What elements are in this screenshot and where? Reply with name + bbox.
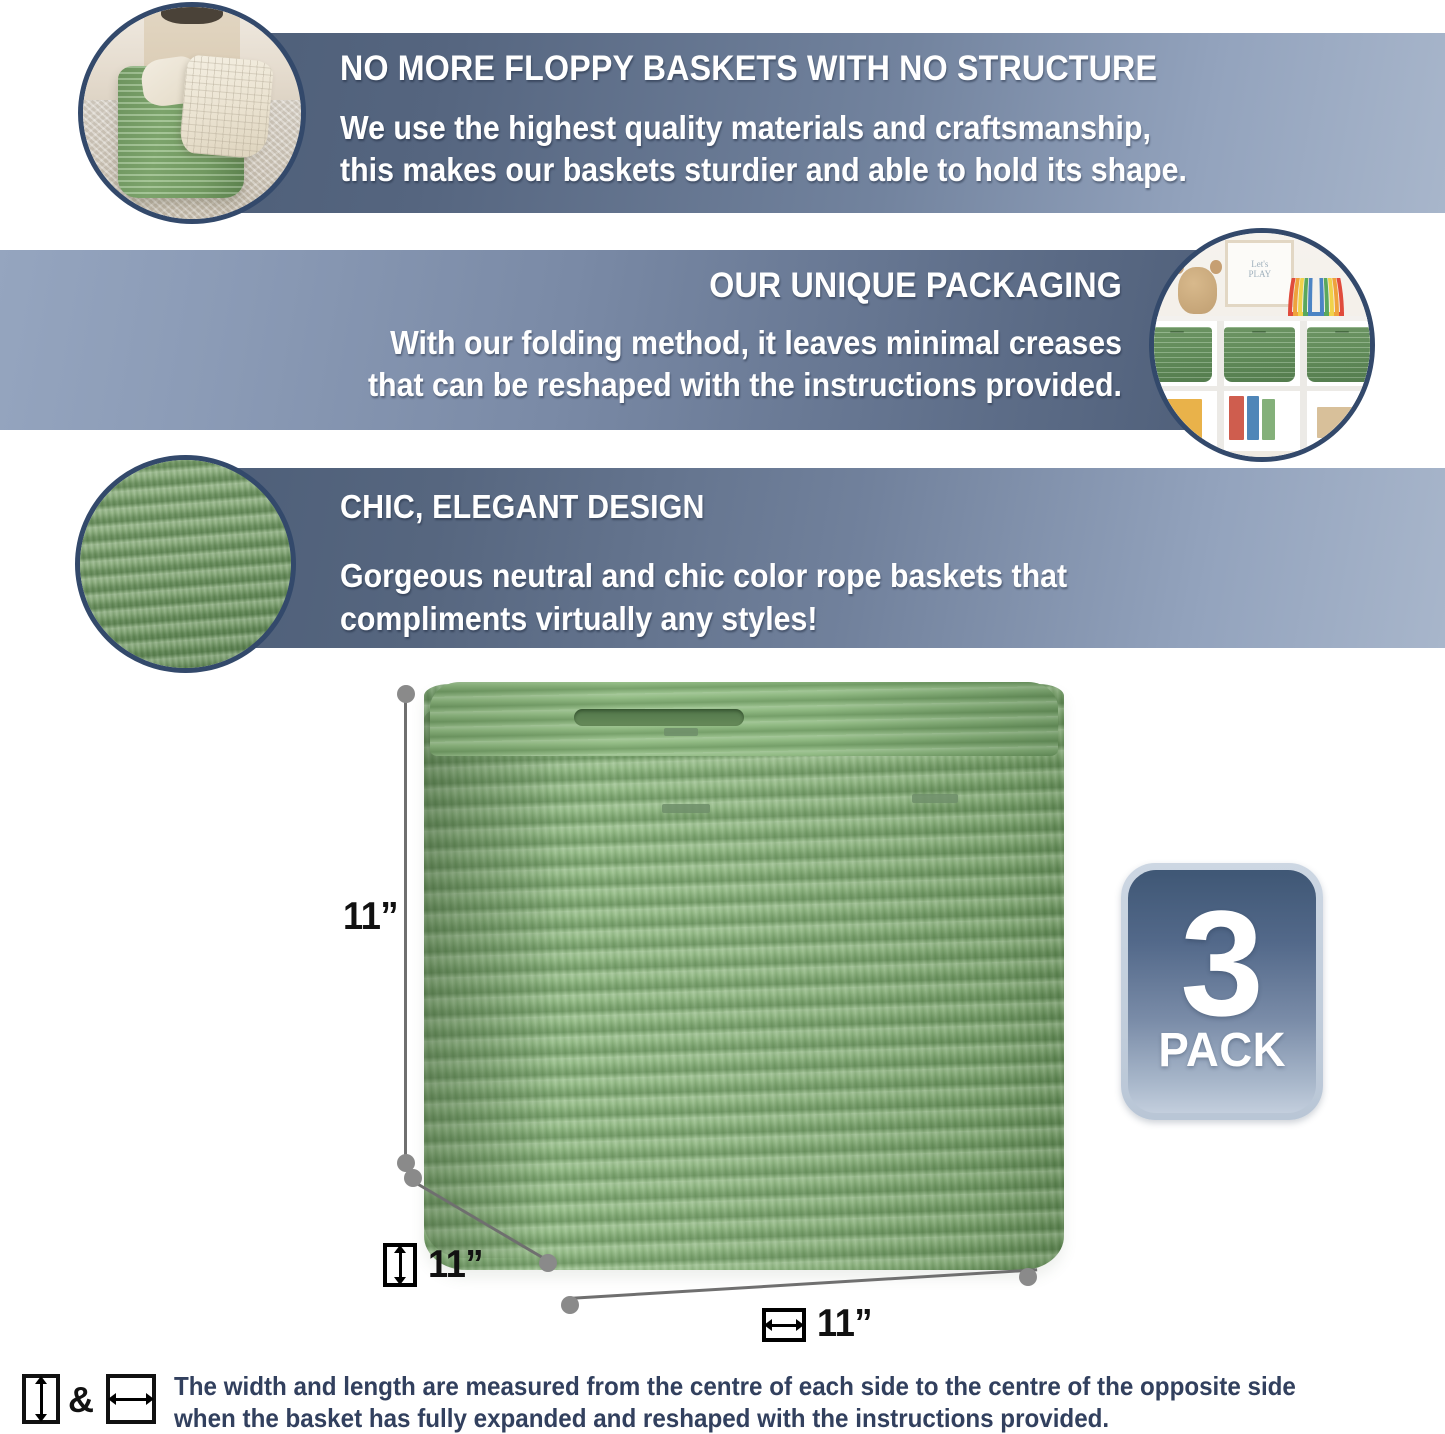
photo-basket-with-towel	[78, 2, 306, 224]
vertical-arrow-icon	[383, 1243, 417, 1287]
depth-dimension-label: 11”	[428, 1243, 483, 1287]
basket-handle-slot	[1252, 331, 1266, 334]
arrow-glyph	[771, 1324, 797, 1327]
photo-teddy-bear	[1178, 267, 1217, 314]
arrow-glyph	[115, 1398, 147, 1401]
shelf-divider-vertical-2	[1300, 321, 1308, 451]
shelf-divider-horizontal	[1149, 386, 1375, 391]
width-dimension-label: 11”	[817, 1302, 872, 1346]
photo-nursery-shelf: Let's PLAY	[1149, 228, 1375, 462]
banner-title: OUR UNIQUE PACKAGING	[90, 264, 1122, 308]
depth-dimension-endpoint-bottom	[539, 1254, 557, 1272]
width-dimension-line	[568, 1268, 1037, 1300]
feature-banner-unique-packaging: OUR UNIQUE PACKAGING With our folding me…	[0, 250, 1252, 430]
width-dimension-endpoint-right	[1019, 1268, 1037, 1286]
basket-handle-slot	[1335, 331, 1349, 334]
product-basket-illustration	[424, 684, 1064, 1270]
disclaimer-text: The width and length are measured from t…	[174, 1370, 1337, 1434]
arrow-glyph	[40, 1383, 43, 1415]
horizontal-arrow-icon	[762, 1308, 806, 1342]
wall-art-line-1: Let's	[1228, 259, 1291, 269]
basket-stitch-tag	[664, 728, 698, 736]
disclaimer-line-2: when the basket has fully expanded and r…	[174, 1402, 1337, 1434]
shelf-divider-vertical-1	[1217, 321, 1225, 451]
photo-waffle-towel	[179, 54, 274, 159]
photo-toy-abacus	[1149, 399, 1202, 441]
height-dimension-endpoint-top	[397, 685, 415, 703]
banner-body-line-1: We use the highest quality materials and…	[340, 107, 1357, 149]
width-dimension-endpoint-left	[561, 1296, 579, 1314]
pack-count-word: PACK	[1158, 1027, 1286, 1075]
photo-wall-art-text: Let's PLAY	[1228, 259, 1291, 280]
photo-book-3	[1262, 399, 1275, 441]
photo-book-2	[1247, 396, 1260, 440]
feature-banner-no-structure: NO MORE FLOPPY BASKETS WITH NO STRUCTURE…	[218, 33, 1445, 213]
banner-body-line-2: that can be reshaped with the instructio…	[90, 364, 1122, 406]
banner-title: CHIC, ELEGANT DESIGN	[340, 486, 1357, 528]
photo-wall-art-frame: Let's PLAY	[1225, 240, 1294, 307]
basket-handle-slot	[574, 709, 744, 726]
height-dimension-label: 11”	[343, 895, 398, 939]
photo-shelf-basket-2	[1224, 327, 1294, 382]
photo-shelf-basket-3	[1307, 327, 1375, 382]
rainbow-arc-blue	[1308, 278, 1324, 316]
photo-wooden-rainbow	[1288, 278, 1344, 316]
banner-body-line-2: this makes our baskets sturdier and able…	[340, 149, 1357, 191]
pack-badge-inner: 3 PACK	[1128, 870, 1316, 1113]
measurement-disclaimer: & The width and length are measured from…	[22, 1372, 1422, 1430]
vertical-arrow-icon	[22, 1374, 60, 1424]
basket-stitch-tag	[662, 804, 710, 813]
horizontal-arrow-icon	[106, 1374, 156, 1424]
rope-weave-texture	[80, 460, 291, 668]
height-dimension-line	[404, 700, 407, 1162]
depth-dimension-endpoint-top	[404, 1169, 422, 1187]
banner-body-line-2: compliments virtually any styles!	[340, 597, 1357, 640]
pack-count-number: 3	[1180, 902, 1263, 1025]
photo-cube-shelf	[1149, 316, 1375, 451]
disclaimer-line-1: The width and length are measured from t…	[174, 1370, 1337, 1402]
ampersand-label: &	[68, 1377, 94, 1423]
pack-count-badge: 3 PACK	[1121, 863, 1323, 1120]
photo-shelf-basket-1	[1149, 327, 1212, 382]
photo-rope-texture-closeup	[75, 455, 296, 673]
basket-rim	[430, 682, 1058, 756]
basket-stitch-tag	[912, 794, 958, 803]
arrow-glyph	[399, 1252, 402, 1278]
banner-body-line-1: With our folding method, it leaves minim…	[90, 322, 1122, 364]
photo-dark-object	[161, 2, 222, 24]
basket-body	[424, 684, 1064, 1270]
photo-book-1	[1229, 396, 1244, 440]
photo-wooden-blocks	[1317, 407, 1362, 438]
banner-body-line-1: Gorgeous neutral and chic color rope bas…	[340, 554, 1357, 597]
feature-banner-chic-design: CHIC, ELEGANT DESIGN Gorgeous neutral an…	[218, 468, 1445, 648]
basket-handle-slot	[1170, 331, 1184, 334]
wall-art-line-2: PLAY	[1228, 269, 1291, 279]
banner-title: NO MORE FLOPPY BASKETS WITH NO STRUCTURE	[340, 47, 1357, 91]
